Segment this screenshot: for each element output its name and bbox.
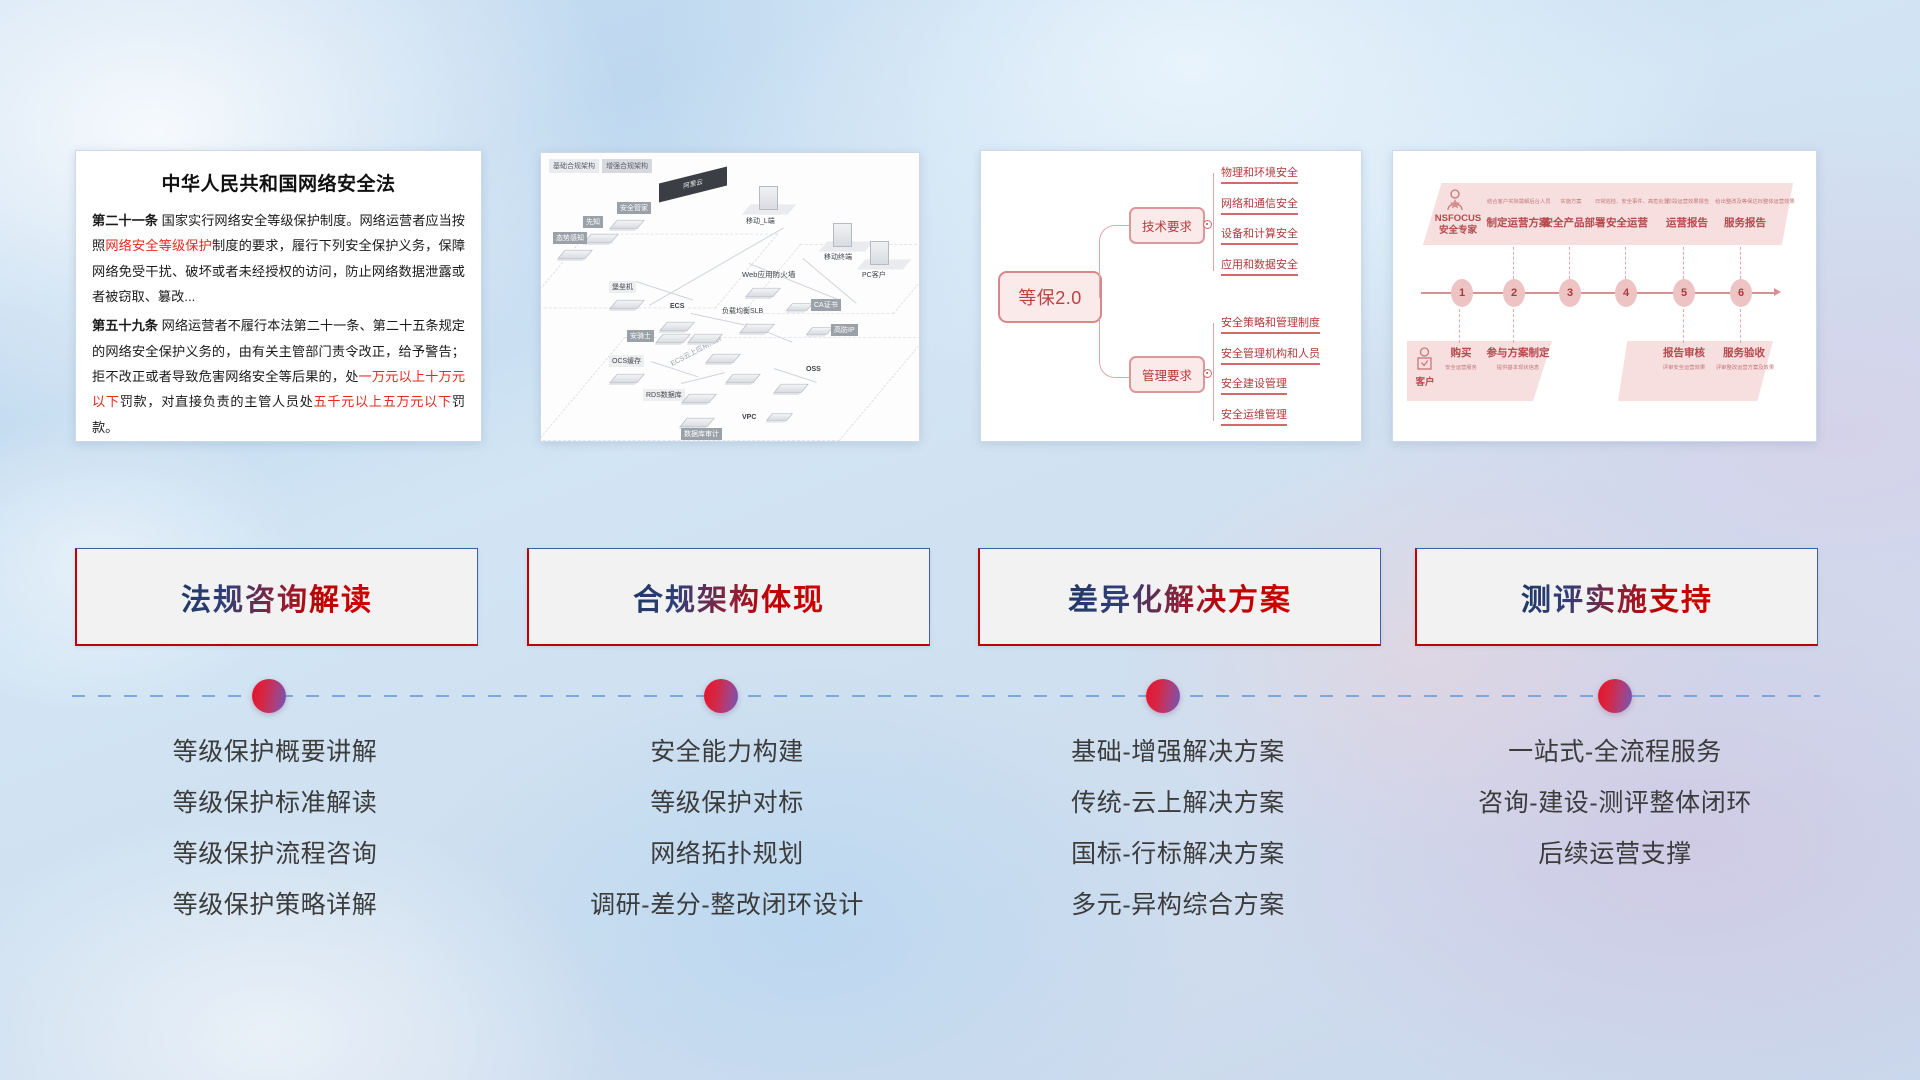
list-item: 一站式-全流程服务 xyxy=(1415,740,1815,765)
timeline-dot-2 xyxy=(704,679,738,713)
roadmap-node-3: 3 xyxy=(1559,279,1581,307)
mindmap-toggle-management-icon[interactable] xyxy=(1203,369,1212,378)
node-anqishi-label: 安骑士 xyxy=(627,330,654,342)
section-title-2: 合规架构体现 xyxy=(633,575,825,619)
node-db-audit: 数据库审计 xyxy=(683,415,711,430)
roadmap-bottom-title-1: 购买 xyxy=(1441,345,1481,360)
list-item: 国标-行标解决方案 xyxy=(978,842,1378,867)
article-59-text-b: 罚款，对直接负责的主管人员处 xyxy=(120,394,314,409)
timeline-dot-4 xyxy=(1598,679,1632,713)
node-situational-awareness: 态势感知 xyxy=(561,241,589,262)
node-ecs: ECS xyxy=(663,313,691,334)
node-vpc-label: VPC xyxy=(739,413,759,422)
mindmap-leaf-tech-2: 网络和通信安全 xyxy=(1221,195,1298,211)
law-article-59: 第五十九条 网络运营者不履行本法第二十一条、第二十五条规定的网络安全保护义务的，… xyxy=(92,313,465,440)
roadmap-top-title-2: 安全产品部署 xyxy=(1541,215,1607,230)
mindmap-leaf-tech-3: 设备和计算安全 xyxy=(1221,225,1298,241)
node-pc-label: PC客户 xyxy=(859,269,889,281)
section-list-2: 安全能力构建 等级保护对标 网络拓扑规划 调研-差分-整改闭环设计 xyxy=(527,740,927,944)
node-ocs-cache-label: OCS缓存 xyxy=(609,355,644,367)
list-item: 传统-云上解决方案 xyxy=(978,791,1378,816)
node-compute-3 xyxy=(729,371,757,386)
roadmap-dash-b4 xyxy=(1740,309,1741,343)
roadmap-top-title-5: 服务报告 xyxy=(1719,215,1771,230)
list-item: 调研-差分-整改闭环设计 xyxy=(527,893,927,918)
list-item: 多元-异构综合方案 xyxy=(978,893,1378,918)
roadmap-node-5: 5 xyxy=(1673,279,1695,307)
node-ocs-cache: OCS缓存 xyxy=(613,365,641,386)
mindmap-brace-management xyxy=(1213,323,1214,421)
roadmap-bottom-sub-2: 提供基本现状信息 xyxy=(1485,363,1551,371)
roadmap-bottom-title-4: 服务验收 xyxy=(1715,345,1773,360)
roadmap-top-title-3: 安全运营 xyxy=(1601,215,1653,230)
node-vpc: VPC xyxy=(739,411,790,423)
mindmap-leaf-mgmt-4: 安全运维管理 xyxy=(1221,406,1287,422)
customer-label: 客户 xyxy=(1411,377,1439,389)
section-title-box-2[interactable]: 合规架构体现 xyxy=(527,548,930,646)
roadmap-dash-b3 xyxy=(1683,309,1684,343)
mindmap-leaf-tech-4: 应用和数据安全 xyxy=(1221,256,1298,272)
cloud-banner: 阿里云 xyxy=(659,167,727,203)
node-compute-1 xyxy=(691,331,719,346)
section-list-1: 等级保护概要讲解 等级保护标准解读 等级保护流程咨询 等级保护策略详解 xyxy=(75,740,475,944)
roadmap-node-6: 6 xyxy=(1730,279,1752,307)
mindmap-leaf-mgmt-1: 安全策略和管理制度 xyxy=(1221,314,1320,330)
list-item: 基础-增强解决方案 xyxy=(978,740,1378,765)
timeline-dashed-line xyxy=(72,695,1820,697)
node-compute-2 xyxy=(709,351,737,366)
roadmap-bottom-title-2: 参与方案制定 xyxy=(1483,345,1553,360)
list-item: 咨询-建设-测评整体闭环 xyxy=(1415,791,1815,816)
node-db-audit-label: 数据库审计 xyxy=(681,428,722,440)
node-anti-ddos-ip: 高防IP xyxy=(809,325,830,337)
node-security-butler: 安全管家 xyxy=(613,211,641,232)
mindmap-leaf-mgmt-3: 安全建设管理 xyxy=(1221,375,1287,391)
server-terminal xyxy=(833,223,852,247)
node-anti-ddos-ip-label: 高防IP xyxy=(831,324,858,336)
node-slb: 负载均衡SLB xyxy=(719,315,771,336)
section-title-3: 差异化解决方案 xyxy=(1068,575,1292,619)
expert-label-line2: 安全专家 xyxy=(1439,225,1477,236)
node-ecs-label: ECS xyxy=(667,302,687,311)
expert-label: NSFOCUS 安全专家 xyxy=(1429,213,1487,237)
expert-label-line1: NSFOCUS xyxy=(1435,213,1481,224)
roadmap-card: NSFOCUS 安全专家 客户 1 2 3 4 5 6 xyxy=(1392,150,1817,442)
list-item: 网络拓扑规划 xyxy=(527,842,927,867)
list-item: 等级保护对标 xyxy=(527,791,927,816)
node-situational-awareness-label: 态势感知 xyxy=(553,232,587,244)
list-item: 等级保护概要讲解 xyxy=(75,740,475,765)
node-xianzhi: 先知 xyxy=(587,225,615,246)
roadmap-bottom-title-3: 报告审核 xyxy=(1655,345,1713,360)
roadmap-bottom-sub-3: 评审安全运营效果 xyxy=(1651,363,1717,371)
mindmap-leaf-tech-1: 物理和环境安全 xyxy=(1221,164,1298,180)
section-title-1: 法规咨询解读 xyxy=(181,575,373,619)
mindmap-root: 等保2.0 xyxy=(998,271,1102,323)
server-pc xyxy=(870,241,889,265)
node-ca-cert-label: CA证书 xyxy=(811,299,841,311)
law-article-21: 第二十一条 国家实行网络安全等级保护制度。网络运营者应当按照网络安全等级保护制度… xyxy=(92,208,465,309)
roadmap-dash-b1 xyxy=(1459,309,1460,343)
roadmap-axis xyxy=(1421,292,1776,294)
server-mobile xyxy=(759,186,778,210)
tab-enhanced-architecture: 增强合规架构 xyxy=(602,159,652,173)
list-item: 安全能力构建 xyxy=(527,740,927,765)
tab-basic-architecture: 基础合规架构 xyxy=(549,159,599,173)
law-card: 中华人民共和国网络安全法 第二十一条 国家实行网络安全等级保护制度。网络运营者应… xyxy=(75,150,482,442)
roadmap-top-title-4: 运营报告 xyxy=(1661,215,1713,230)
article-59-label: 第五十九条 xyxy=(92,318,158,333)
roadmap-top-sub-2: 实施方案 xyxy=(1551,197,1591,205)
roadmap-dash-6 xyxy=(1740,247,1741,279)
article-21-highlight: 网络安全等级保护 xyxy=(105,238,212,253)
node-waf: Web应用防火墙 xyxy=(739,279,777,300)
article-59-highlight-2: 五千元以上五万元以下 xyxy=(313,394,451,409)
node-oss: OSS xyxy=(777,375,805,396)
node-ca-cert: CA证书 xyxy=(789,301,810,313)
mindmap-toggle-technical-icon[interactable] xyxy=(1203,220,1212,229)
mindmap-brace-technical xyxy=(1213,173,1214,271)
timeline-dot-3 xyxy=(1146,679,1180,713)
roadmap-node-4: 4 xyxy=(1615,279,1637,307)
mindmap-branch-technical: 技术要求 xyxy=(1129,207,1205,244)
mindmap-curve-management xyxy=(1099,319,1132,378)
architecture-tabs: 基础合规架构 增强合规架构 xyxy=(549,159,652,173)
list-item: 等级保护策略详解 xyxy=(75,893,475,918)
roadmap-dash-3 xyxy=(1569,247,1570,279)
timeline-dot-1 xyxy=(252,679,286,713)
roadmap-top-sub-1: 结合客户实际需解后台人员 xyxy=(1487,197,1549,205)
node-rds: RDS数据库 xyxy=(651,391,713,406)
expert-person-icon xyxy=(1445,189,1465,211)
law-card-title: 中华人民共和国网络安全法 xyxy=(92,169,465,196)
architecture-card: 基础合规架构 增强合规架构 阿里云 移动_L端 移动终端 xyxy=(540,152,920,442)
node-slb-label: 负载均衡SLB xyxy=(719,305,766,317)
node-bastion-host: 堡垒机 xyxy=(613,291,641,312)
mindmap-branch-management: 管理要求 xyxy=(1129,356,1205,393)
roadmap-node-1: 1 xyxy=(1451,279,1473,307)
article-21-label: 第二十一条 xyxy=(92,213,158,228)
node-mobile-label: 移动_L端 xyxy=(743,215,778,227)
node-waf-label: Web应用防火墙 xyxy=(739,268,798,281)
list-item: 后续运营支撑 xyxy=(1415,842,1815,867)
list-item: 等级保护标准解读 xyxy=(75,791,475,816)
section-title-box-3[interactable]: 差异化解决方案 xyxy=(978,548,1381,646)
mindmap-card: 等保2.0 技术要求 管理要求 物理和环境安全 网络和通信安全 设备和计算安全 … xyxy=(980,150,1362,442)
cloud-banner-label: 阿里云 xyxy=(659,167,727,203)
mindmap-leaf-mgmt-2: 安全管理机构和人员 xyxy=(1221,345,1320,361)
roadmap-axis-arrow-icon xyxy=(1774,288,1781,296)
section-list-3: 基础-增强解决方案 传统-云上解决方案 国标-行标解决方案 多元-异构综合方案 xyxy=(978,740,1378,944)
node-rds-label: RDS数据库 xyxy=(643,389,685,401)
customer-person-icon xyxy=(1415,347,1434,373)
section-title-4: 测评实施支持 xyxy=(1521,575,1713,619)
roadmap-dash-5 xyxy=(1683,247,1684,279)
roadmap-dash-b2 xyxy=(1513,309,1514,343)
node-security-butler-label: 安全管家 xyxy=(617,202,651,214)
roadmap-node-2: 2 xyxy=(1503,279,1525,307)
list-item: 等级保护流程咨询 xyxy=(75,842,475,867)
node-xianzhi-label: 先知 xyxy=(583,216,603,228)
roadmap-dash-4 xyxy=(1625,247,1626,279)
node-terminal-label: 移动终端 xyxy=(821,251,855,263)
roadmap-top-sub-5: 给出整改及等保达标整体运营效果 xyxy=(1707,197,1803,205)
roadmap-bottom-sub-1: 安全运营服务 xyxy=(1435,363,1487,371)
roadmap-bottom-sub-4: 评审整改运营方案及效果 xyxy=(1709,363,1781,371)
roadmap-dash-2 xyxy=(1513,247,1514,279)
section-title-box-4[interactable]: 测评实施支持 xyxy=(1415,548,1818,646)
node-bastion-host-label: 堡垒机 xyxy=(609,281,636,293)
section-title-box-1[interactable]: 法规咨询解读 xyxy=(75,548,478,646)
node-oss-label: OSS xyxy=(803,365,824,374)
section-list-4: 一站式-全流程服务 咨询-建设-测评整体闭环 后续运营支撑 xyxy=(1415,740,1815,893)
mindmap-curve-technical xyxy=(1099,225,1132,298)
